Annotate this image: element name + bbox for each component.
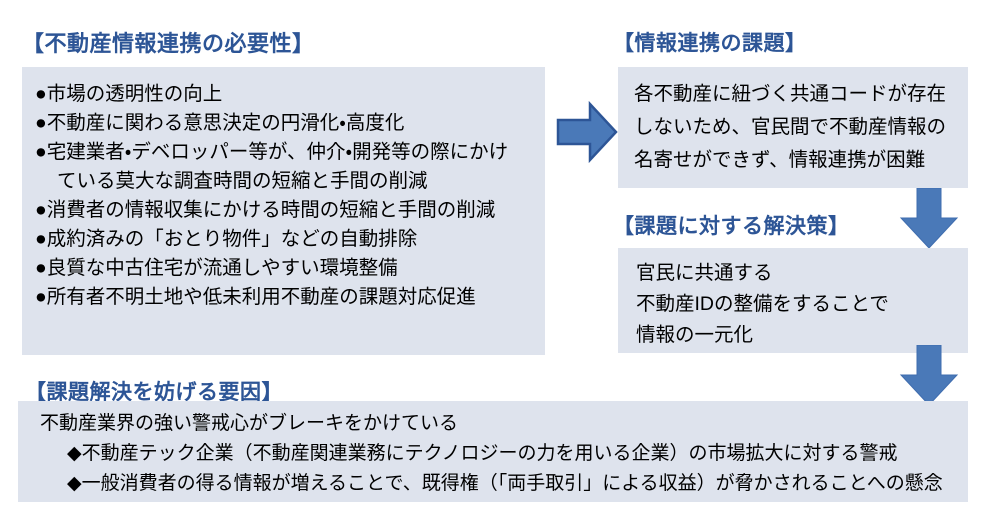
panel2-text-line: 名寄せができず、情報連携が困難 bbox=[634, 144, 946, 177]
bullet-diamond-icon: ◆ bbox=[67, 473, 82, 494]
panel1-bullet-list: ●市場の透明性の向上●不動産に関わる意思決定の円滑化・高度化●宅建業者・デベロッ… bbox=[35, 80, 508, 312]
panel4-text: 不動産業界の強い警戒心がブレーキをかけている◆不動産テック企業（不動産関連業務に… bbox=[40, 409, 943, 499]
panel1-list-item: ●消費者の情報収集にかける時間の短縮と手間の削減 bbox=[35, 196, 508, 225]
bullet-circle-icon: ● bbox=[35, 109, 47, 138]
panel3-text-line: 官民に共通する bbox=[636, 258, 889, 289]
panel4-lead-line: 不動産業界の強い警戒心がブレーキをかけている bbox=[40, 409, 943, 439]
panel1-list-item-label: 不動産に関わる意思決定の円滑化・高度化 bbox=[47, 112, 405, 134]
panel2-heading: 【情報連携の課題】 bbox=[613, 27, 807, 57]
panel1-list-item-label: 所有者不明土地や低未利用不動産の課題対応促進 bbox=[47, 286, 476, 308]
panel1-list-item: ●宅建業者・デベロッパー等が、仲介・開発等の際にかけ bbox=[35, 138, 508, 167]
panel4-list-item-label: 不動産テック企業（不動産関連業務にテクノロジーの力を用いる企業）の市場拡大に対す… bbox=[82, 443, 898, 464]
bullet-circle-icon: ● bbox=[35, 80, 47, 109]
down-arrow-2-icon bbox=[898, 345, 960, 407]
bullet-circle-icon: ● bbox=[35, 283, 47, 312]
panel1-list-item: ●市場の透明性の向上 bbox=[35, 80, 508, 109]
panel1-necessity-box: ●市場の透明性の向上●不動産に関わる意思決定の円滑化・高度化●宅建業者・デベロッ… bbox=[22, 67, 545, 355]
diagram-canvas: 【不動産情報連携の必要性】 ●市場の透明性の向上●不動産に関わる意思決定の円滑化… bbox=[0, 0, 1000, 524]
panel3-text-line: 不動産IDの整備をすることで bbox=[636, 289, 889, 320]
panel2-text-line: しないため、官民間で不動産情報の bbox=[634, 111, 946, 144]
panel1-heading: 【不動産情報連携の必要性】 bbox=[22, 26, 315, 58]
panel1-list-item-label: 消費者の情報収集にかける時間の短縮と手間の削減 bbox=[47, 199, 496, 221]
panel1-list-item-label: 市場の透明性の向上 bbox=[47, 83, 223, 105]
panel4-list-item-label: 一般消費者の得る情報が増えることで、既得権（「両手取引」による収益）が脅かされる… bbox=[82, 473, 943, 494]
panel1-list-item: ●所有者不明土地や低未利用不動産の課題対応促進 bbox=[35, 283, 508, 312]
panel2-text-line: 各不動産に紐づく共通コードが存在 bbox=[634, 78, 946, 111]
panel1-list-item-continuation: ている莫大な調査時間の短縮と手間の削減 bbox=[35, 167, 508, 196]
panel1-list-item-label: 宅建業者・デベロッパー等が、仲介・開発等の際にかけ bbox=[47, 141, 508, 163]
panel4-list-item: ◆一般消費者の得る情報が増えることで、既得権（「両手取引」による収益）が脅かされ… bbox=[40, 469, 943, 499]
panel1-list-item: ●良質な中古住宅が流通しやすい環境整備 bbox=[35, 254, 508, 283]
panel2-issue-box: 各不動産に紐づく共通コードが存在しないため、官民間で不動産情報の名寄せができず、… bbox=[618, 67, 968, 188]
panel4-obstacle-box: 不動産業界の強い警戒心がブレーキをかけている◆不動産テック企業（不動産関連業務に… bbox=[18, 401, 968, 502]
down-arrow-1-icon bbox=[898, 188, 960, 250]
panel1-list-item-label: 成約済みの「おとり物件」などの自動排除 bbox=[47, 228, 418, 250]
panel2-text: 各不動産に紐づく共通コードが存在しないため、官民間で不動産情報の名寄せができず、… bbox=[634, 78, 946, 177]
panel3-text-line: 情報の一元化 bbox=[636, 320, 889, 351]
panel1-list-item: ●不動産に関わる意思決定の円滑化・高度化 bbox=[35, 109, 508, 138]
panel1-list-item-label: 良質な中古住宅が流通しやすい環境整備 bbox=[47, 257, 398, 279]
panel1-list-item: ●成約済みの「おとり物件」などの自動排除 bbox=[35, 225, 508, 254]
bullet-circle-icon: ● bbox=[35, 225, 47, 254]
bullet-circle-icon: ● bbox=[35, 196, 47, 225]
panel3-solution-box: 官民に共通する不動産IDの整備をすることで情報の一元化 bbox=[618, 248, 968, 353]
right-arrow-icon bbox=[556, 100, 618, 164]
bullet-circle-icon: ● bbox=[35, 254, 47, 283]
panel4-list-item: ◆不動産テック企業（不動産関連業務にテクノロジーの力を用いる企業）の市場拡大に対… bbox=[40, 439, 943, 469]
panel3-text: 官民に共通する不動産IDの整備をすることで情報の一元化 bbox=[636, 258, 889, 351]
bullet-circle-icon: ● bbox=[35, 138, 47, 167]
panel3-heading: 【課題に対する解決策】 bbox=[613, 210, 850, 240]
bullet-diamond-icon: ◆ bbox=[67, 443, 82, 464]
